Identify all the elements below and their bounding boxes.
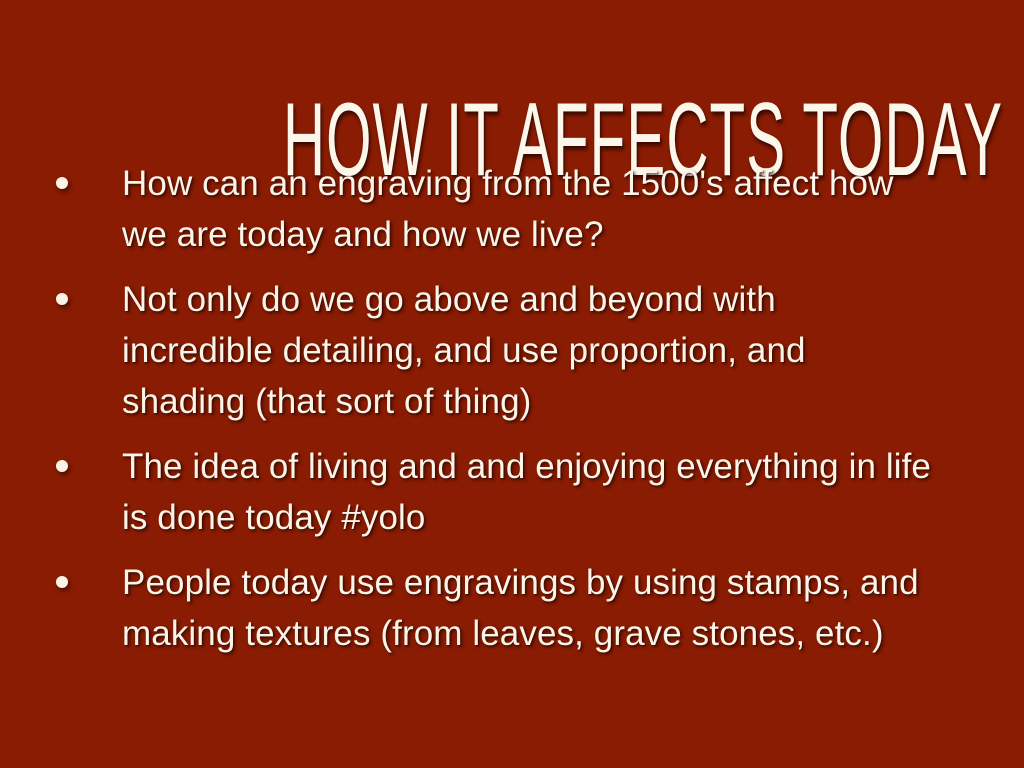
bullet-dot-icon [56,177,68,189]
list-item: How can an engraving from the 1500's aff… [0,158,1024,260]
bullet-dot-icon [56,460,68,472]
bullet-text: Not only do we go above and beyond with … [122,274,922,427]
bullet-dot-icon [56,293,68,305]
bullet-text: The idea of living and and enjoying ever… [122,441,937,543]
presentation-slide: HOW IT AFFECTS TODAY How can an engravin… [0,0,1024,768]
bullet-dot-icon [56,576,68,588]
list-item: Not only do we go above and beyond with … [0,274,1024,427]
bullet-text: People today use engravings by using sta… [122,557,937,659]
list-item: People today use engravings by using sta… [0,557,1024,659]
bullet-list: How can an engraving from the 1500's aff… [0,158,1024,768]
list-item: The idea of living and and enjoying ever… [0,441,1024,543]
bullet-text: How can an engraving from the 1500's aff… [122,158,922,260]
